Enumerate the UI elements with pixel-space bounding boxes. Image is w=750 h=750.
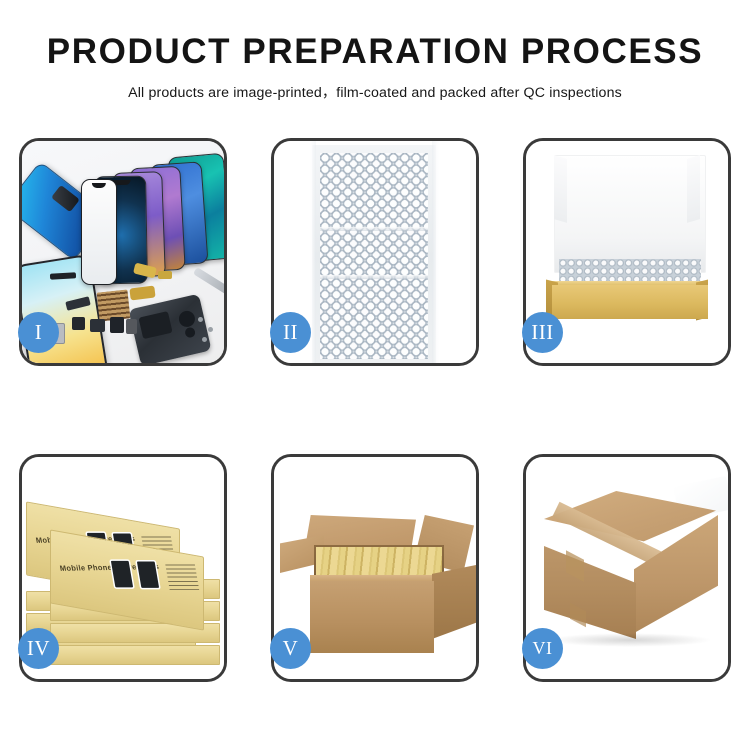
- screw-part: [198, 317, 203, 322]
- page-header: PRODUCT PREPARATION PROCESS All products…: [0, 0, 750, 102]
- small-component-part: [90, 319, 105, 332]
- small-component-part: [72, 317, 85, 330]
- page-title: PRODUCT PREPARATION PROCESS: [0, 34, 750, 71]
- carton-front-panel: [310, 581, 434, 653]
- battery-connector-part: [126, 319, 137, 334]
- process-step-panel-2: II: [271, 138, 479, 366]
- phone-notch-icon: [92, 183, 106, 188]
- step-badge-6: VI: [522, 628, 563, 669]
- retail-box: [50, 645, 220, 665]
- screw-part: [202, 337, 207, 342]
- step-badge-2: II: [270, 312, 311, 353]
- process-step-panel-6: VI: [523, 454, 731, 682]
- bubble-wrap-edge-right: [432, 141, 439, 363]
- inner-box-lid-flap-right: [687, 155, 700, 223]
- process-step-panel-5: V: [271, 454, 479, 682]
- box-spec-text-lines: [165, 561, 199, 589]
- step-badge-1: I: [18, 312, 59, 353]
- phone-screen-white: [81, 179, 117, 285]
- inner-box-front: [552, 285, 708, 319]
- page-subtitle: All products are image-printed，film-coat…: [0, 82, 750, 102]
- carton-drop-shadow: [548, 633, 712, 647]
- carton-side-panel: [432, 565, 476, 639]
- bubble-wrap-seam: [320, 227, 428, 231]
- small-component-part: [110, 317, 124, 333]
- screw-part: [208, 327, 213, 332]
- inner-box-lid: [554, 155, 706, 273]
- step-badge-4: IV: [18, 628, 59, 669]
- bubble-wrap-bubbles: [320, 153, 428, 359]
- process-step-panel-4: Mobile Phone Spare Parts Mobile Phone Sp…: [19, 454, 227, 682]
- inner-box-lid-flap-left: [554, 155, 567, 223]
- process-step-grid: I II III: [0, 138, 750, 682]
- process-step-panel-1: I: [19, 138, 227, 366]
- step-badge-5: V: [270, 628, 311, 669]
- process-step-panel-3: III: [523, 138, 731, 366]
- step-badge-3: III: [522, 312, 563, 353]
- flex-cable-part: [158, 271, 172, 279]
- bubble-wrap-seam: [320, 275, 428, 279]
